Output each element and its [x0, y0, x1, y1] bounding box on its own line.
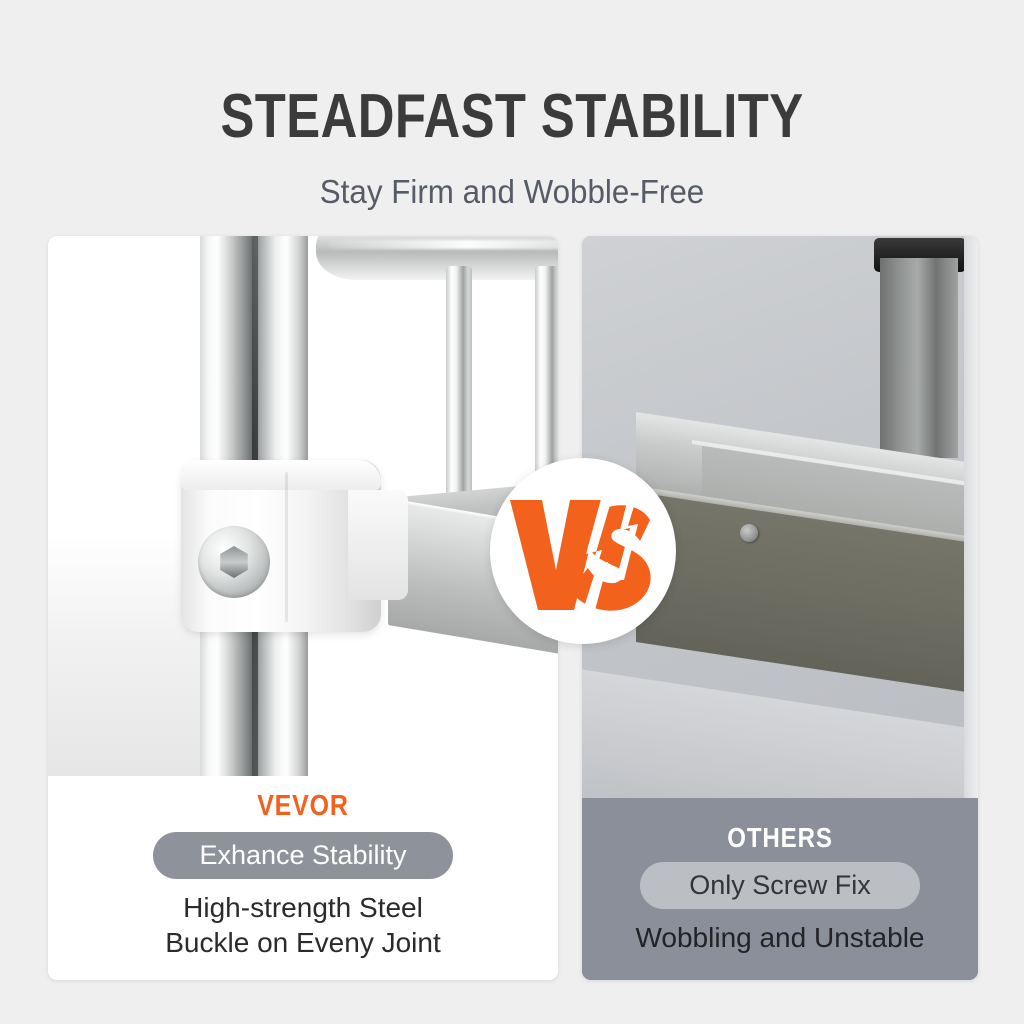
vevor-caption-line2: Buckle on Eveny Joint: [48, 925, 558, 960]
photo-floor: [582, 668, 978, 798]
versus-badge-graphic: [490, 458, 676, 644]
white-buckle-seam: [285, 472, 288, 622]
vevor-product-photo: [48, 236, 558, 776]
others-feature-pill: Only Screw Fix: [640, 862, 920, 909]
table-leg: [880, 258, 958, 458]
photo-right-edge-strip: [964, 236, 978, 798]
white-buckle-arm: [348, 490, 408, 600]
comparison-panel-vevor: VEVOR Exhance Stability High-strength St…: [48, 236, 558, 980]
steel-rod: [446, 266, 472, 518]
others-caption: Wobbling and Unstable: [582, 920, 978, 955]
page-subtitle: Stay Firm and Wobble-Free: [26, 172, 999, 212]
versus-badge: [490, 458, 676, 644]
vevor-brand-label: VEVOR: [84, 790, 523, 822]
others-caption-band: OTHERS Only Screw Fix Wobbling and Unsta…: [582, 798, 978, 980]
header: STEADFAST STABILITY Stay Firm and Wobble…: [0, 0, 1024, 236]
screw-icon: [740, 524, 758, 542]
page-title: STEADFAST STABILITY: [92, 86, 932, 148]
vevor-feature-pill: Exhance Stability: [153, 832, 453, 879]
white-buckle-top: [181, 460, 381, 490]
vevor-caption-band: VEVOR Exhance Stability High-strength St…: [48, 776, 558, 980]
steel-backsplash-highlight: [328, 240, 558, 249]
vevor-caption: High-strength Steel Buckle on Eveny Join…: [48, 890, 558, 960]
others-brand-label: OTHERS: [610, 822, 951, 853]
vevor-caption-line1: High-strength Steel: [48, 890, 558, 925]
